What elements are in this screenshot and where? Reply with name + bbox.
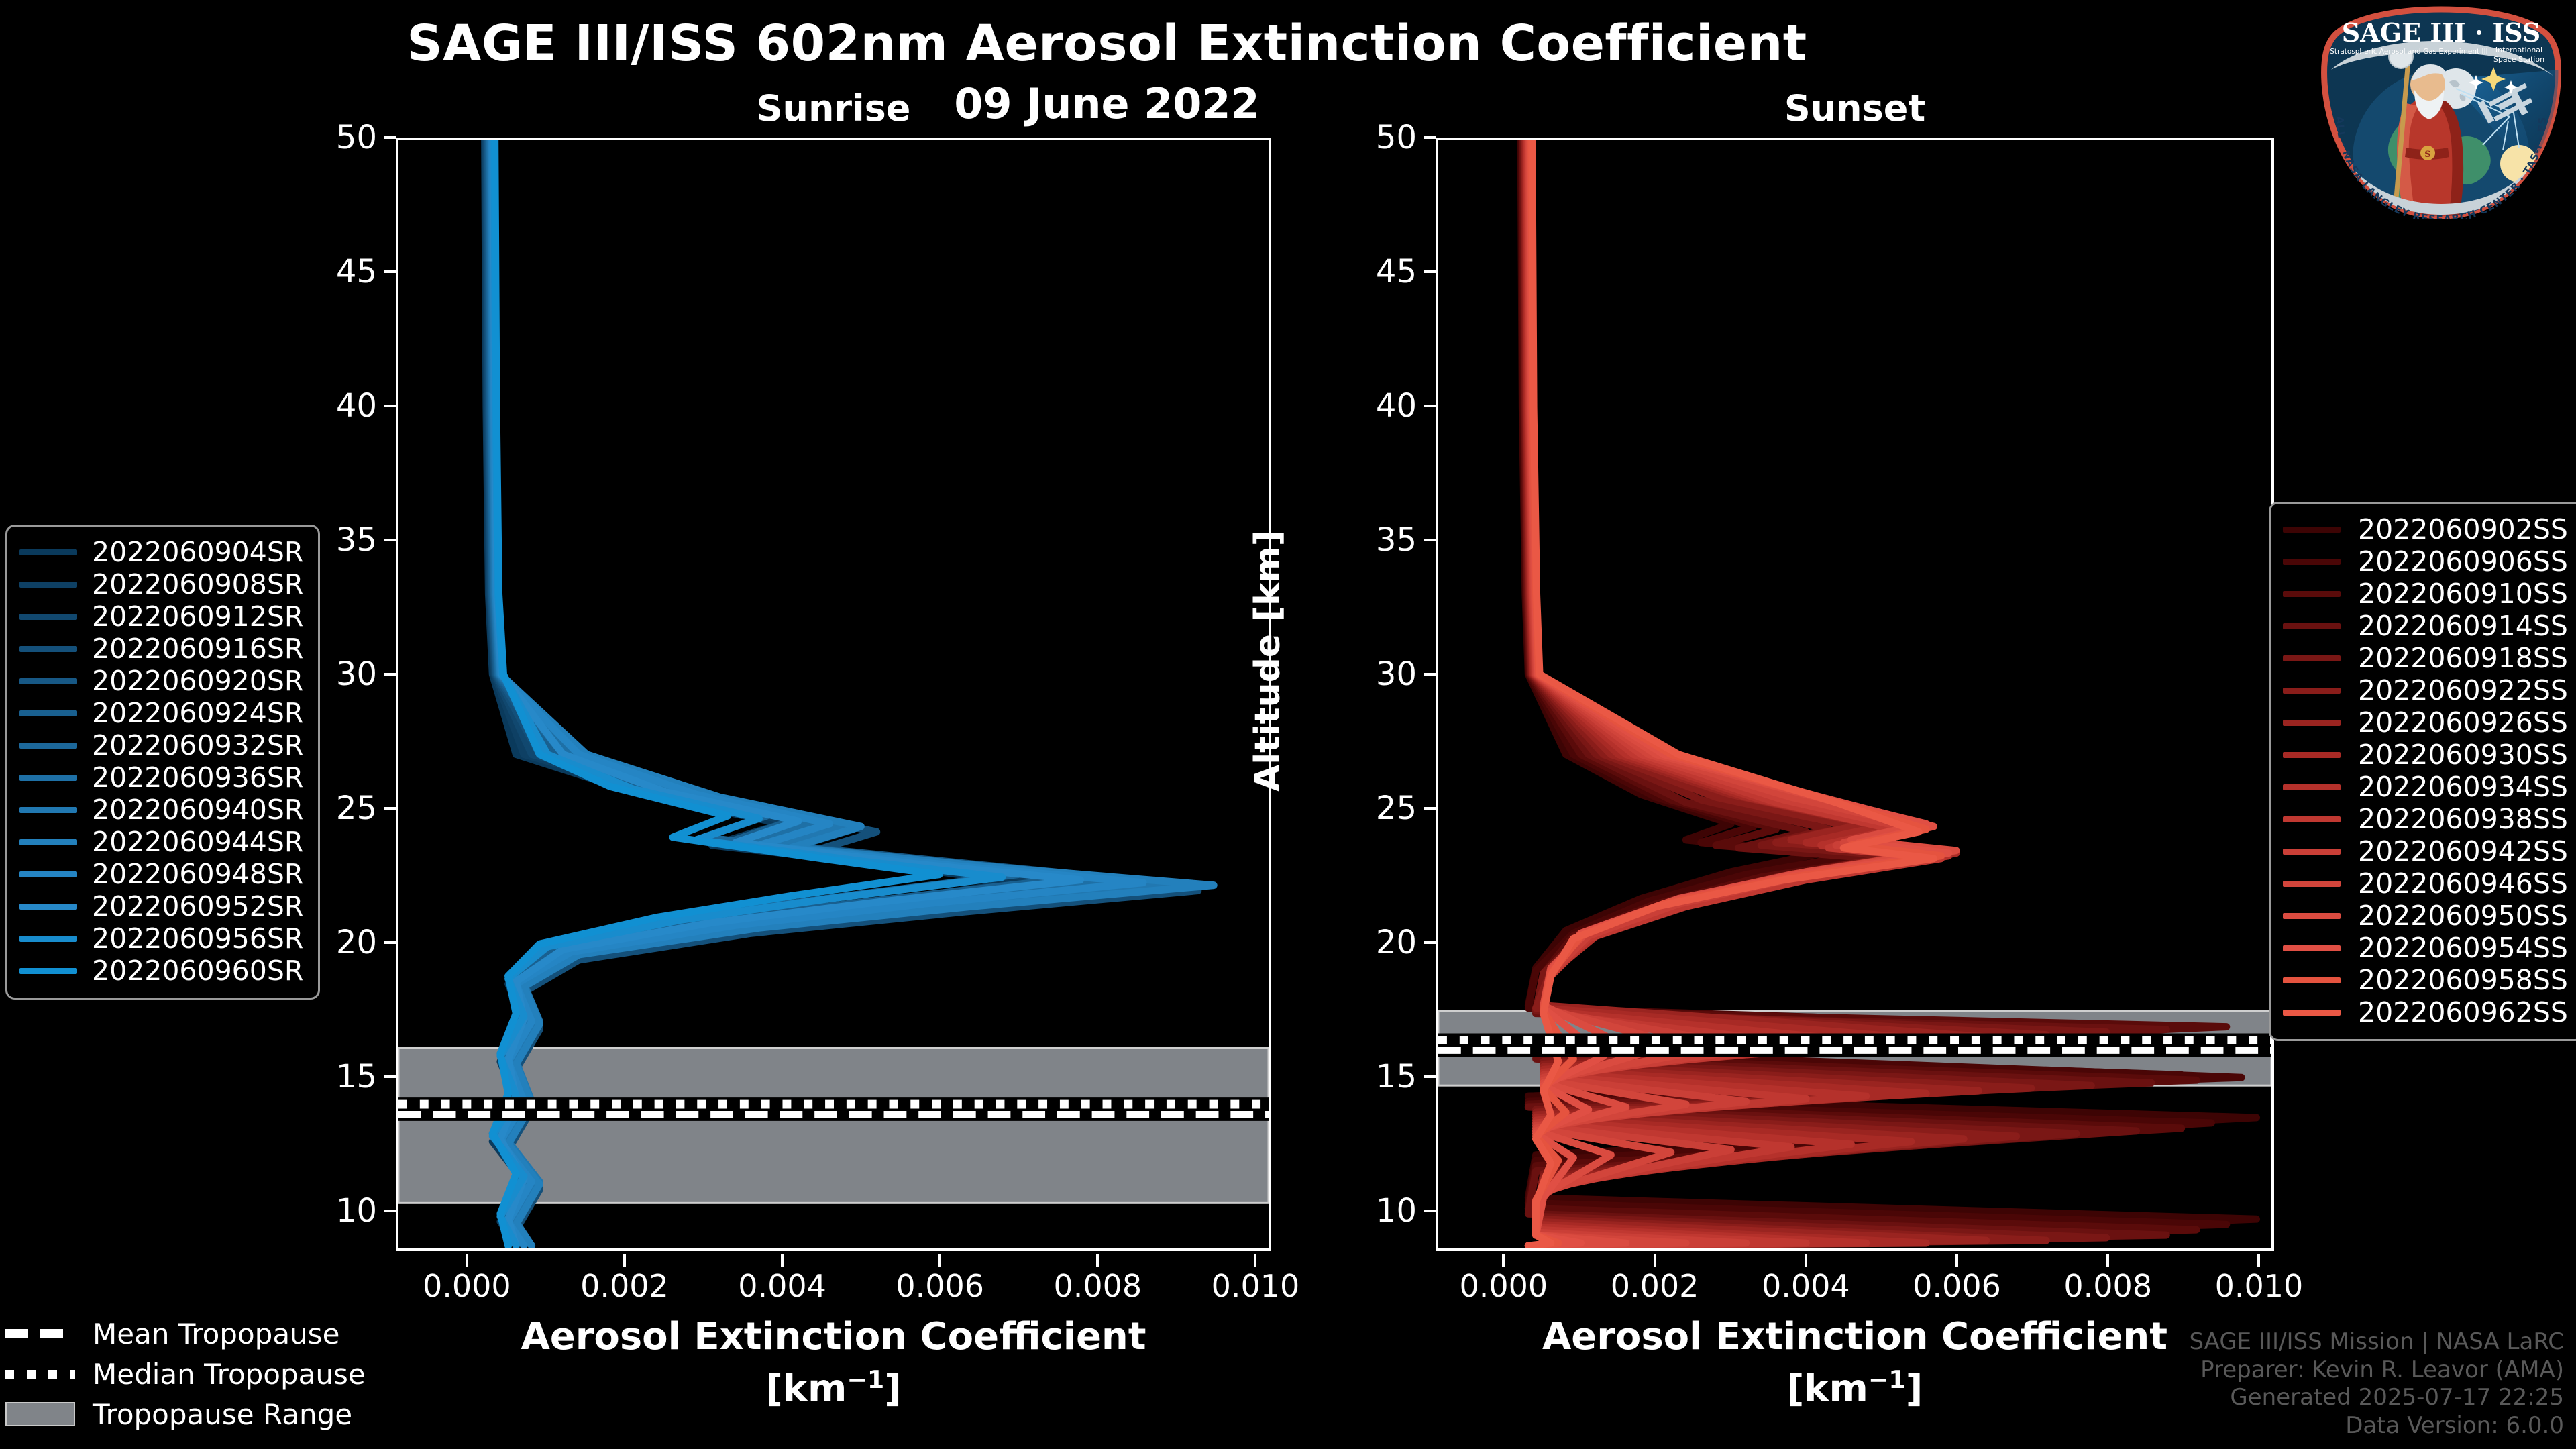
legend-label-median-tropopause: Median Tropopause bbox=[93, 1358, 366, 1391]
sunrise-legend-label: 2022060908SR bbox=[92, 568, 303, 600]
sunrise-legend-item[interactable]: 2022060956SR bbox=[19, 922, 303, 955]
sunset-legend-item[interactable]: 2022060930SS bbox=[2283, 739, 2568, 771]
sunrise-legend-label: 2022060932SR bbox=[92, 729, 303, 761]
band-swatch-icon bbox=[5, 1402, 75, 1426]
legend-line-swatch-icon bbox=[19, 839, 77, 845]
sunset-ytick-label: 40 bbox=[1316, 387, 1417, 425]
sunset-xtick-label: 0.008 bbox=[2063, 1268, 2152, 1304]
sunset-legend-label: 2022060926SS bbox=[2358, 706, 2568, 739]
sunset-ytick-mark bbox=[1424, 405, 1436, 407]
sunset-legend-item[interactable]: 2022060926SS bbox=[2283, 706, 2568, 739]
sunset-ytick-mark bbox=[1424, 136, 1436, 139]
sage-iii-iss-mission-patch-logo: S SAGE III · ISS Stratospheric Aerosol a… bbox=[2318, 5, 2565, 219]
sunrise-legend-item[interactable]: 2022060912SR bbox=[19, 600, 303, 633]
sunset-xtick-label: 0.000 bbox=[1459, 1268, 1548, 1304]
sunrise-legend-item[interactable]: 2022060940SR bbox=[19, 794, 303, 826]
legend-item-mean-tropopause: Mean Tropopause bbox=[5, 1313, 366, 1354]
sunrise-ytick-mark bbox=[384, 270, 396, 273]
sunrise-legend-label: 2022060904SR bbox=[92, 536, 303, 568]
sunset-xtick-label: 0.002 bbox=[1611, 1268, 1699, 1304]
sunset-y-axis-label: Altitude [km] bbox=[1248, 530, 1288, 792]
sunset-legend[interactable]: 2022060902SS2022060906SS2022060910SS2022… bbox=[2269, 502, 2576, 1041]
sunset-legend-item[interactable]: 2022060918SS bbox=[2283, 642, 2568, 674]
sunrise-xtick-label: 0.010 bbox=[1212, 1268, 1300, 1304]
page-title: SAGE III/ISS 602nm Aerosol Extinction Co… bbox=[0, 15, 2214, 72]
sunset-legend-item[interactable]: 2022060906SS bbox=[2283, 545, 2568, 578]
sunrise-xtick-mark bbox=[938, 1254, 941, 1267]
legend-line-swatch-icon bbox=[2283, 816, 2341, 822]
sunrise-x-axis-label: Aerosol Extinction Coefficient [km−1] bbox=[396, 1315, 1271, 1411]
legend-line-swatch-icon bbox=[19, 710, 77, 716]
sunrise-legend-item[interactable]: 2022060960SR bbox=[19, 955, 303, 987]
sunset-legend-item[interactable]: 2022060946SS bbox=[2283, 867, 2568, 900]
sunrise-ytick-mark bbox=[384, 539, 396, 541]
sunset-legend-item[interactable]: 2022060954SS bbox=[2283, 932, 2568, 964]
patch-subtitle-right-1: International bbox=[2495, 46, 2542, 54]
legend-line-swatch-icon bbox=[2283, 849, 2341, 855]
sunset-legend-label: 2022060954SS bbox=[2358, 932, 2568, 964]
sunrise-legend-label: 2022060952SR bbox=[92, 890, 303, 922]
legend-line-swatch-icon bbox=[2283, 752, 2341, 758]
sunset-legend-label: 2022060910SS bbox=[2358, 578, 2568, 610]
sunset-ytick-mark bbox=[1424, 673, 1436, 676]
sunset-xtick-mark bbox=[1805, 1254, 1807, 1267]
sunset-legend-item[interactable]: 2022060934SS bbox=[2283, 771, 2568, 803]
sunrise-xtick-label: 0.000 bbox=[423, 1268, 511, 1304]
sunset-xtick-label: 0.010 bbox=[2215, 1268, 2304, 1304]
sunset-ytick-mark bbox=[1424, 1075, 1436, 1078]
credits-line-generated: Generated 2025-07-17 22:25 bbox=[2189, 1384, 2564, 1411]
sunset-legend-label: 2022060962SS bbox=[2358, 996, 2568, 1028]
legend-line-swatch-icon bbox=[19, 871, 77, 877]
sunset-x-axis-label: Aerosol Extinction Coefficient [km−1] bbox=[1436, 1315, 2274, 1411]
sunset-ytick-label: 50 bbox=[1316, 119, 1417, 156]
sunrise-legend-label: 2022060948SR bbox=[92, 858, 303, 890]
patch-subtitle-right-2: Space Station bbox=[2493, 55, 2544, 64]
sunset-legend-item[interactable]: 2022060922SS bbox=[2283, 674, 2568, 706]
sunset-legend-item[interactable]: 2022060902SS bbox=[2283, 513, 2568, 545]
legend-line-swatch-icon bbox=[2283, 688, 2341, 694]
sunrise-ytick-mark bbox=[384, 1075, 396, 1078]
legend-line-swatch-icon bbox=[2283, 527, 2341, 533]
legend-line-swatch-icon bbox=[2283, 1010, 2341, 1016]
sunset-x-axis-unit: [km−1] bbox=[1436, 1365, 2274, 1411]
dotted-line-icon bbox=[5, 1370, 75, 1379]
legend-line-swatch-icon bbox=[2283, 623, 2341, 629]
sunset-ytick-label: 30 bbox=[1316, 655, 1417, 693]
legend-line-swatch-icon bbox=[2283, 655, 2341, 661]
sunset-ytick-label: 10 bbox=[1316, 1192, 1417, 1230]
legend-line-swatch-icon bbox=[19, 646, 77, 652]
sunset-plot-area bbox=[1436, 138, 2274, 1251]
legend-line-swatch-icon bbox=[2283, 913, 2341, 919]
sunset-panel-title: Sunset bbox=[1436, 87, 2274, 129]
sunrise-ytick-label: 10 bbox=[276, 1192, 377, 1230]
sunrise-legend-item[interactable]: 2022060908SR bbox=[19, 568, 303, 600]
svg-text:S: S bbox=[2424, 150, 2430, 160]
sunset-legend-item[interactable]: 2022060950SS bbox=[2283, 900, 2568, 932]
sunset-ytick-label: 25 bbox=[1316, 790, 1417, 827]
sunset-ytick-label: 15 bbox=[1316, 1058, 1417, 1095]
legend-line-swatch-icon bbox=[19, 807, 77, 813]
sunset-ytick-label: 45 bbox=[1316, 253, 1417, 290]
tropopause-legend: Mean Tropopause Median Tropopause Tropop… bbox=[5, 1313, 366, 1434]
sunrise-xtick-label: 0.002 bbox=[580, 1268, 669, 1304]
sunset-legend-item[interactable]: 2022060914SS bbox=[2283, 610, 2568, 642]
sunset-xtick-mark bbox=[1955, 1254, 1958, 1267]
sunrise-x-axis-label-text: Aerosol Extinction Coefficient bbox=[521, 1315, 1146, 1358]
sunrise-ytick-mark bbox=[384, 1210, 396, 1212]
sunrise-legend-label: 2022060924SR bbox=[92, 697, 303, 729]
legend-line-swatch-icon bbox=[2283, 881, 2341, 887]
credits-line-preparer: Preparer: Kevin R. Leavor (AMA) bbox=[2189, 1356, 2564, 1384]
credits-block: SAGE III/ISS Mission | NASA LaRC Prepare… bbox=[2189, 1328, 2564, 1440]
legend-line-swatch-icon bbox=[2283, 784, 2341, 790]
sunrise-ytick-label: 15 bbox=[276, 1058, 377, 1095]
sunrise-legend-label: 2022060956SR bbox=[92, 922, 303, 955]
legend-line-swatch-icon bbox=[19, 968, 77, 974]
sunset-legend-label: 2022060938SS bbox=[2358, 803, 2568, 835]
credits-line-mission: SAGE III/ISS Mission | NASA LaRC bbox=[2189, 1328, 2564, 1356]
sunrise-legend-label: 2022060912SR bbox=[92, 600, 303, 633]
sunrise-ytick-mark bbox=[384, 807, 396, 810]
sunset-xtick-mark bbox=[2257, 1254, 2260, 1267]
legend-line-swatch-icon bbox=[19, 678, 77, 684]
sunset-legend-item[interactable]: 2022060942SS bbox=[2283, 835, 2568, 867]
sunrise-legend-item[interactable]: 2022060924SR bbox=[19, 697, 303, 729]
legend-line-swatch-icon bbox=[19, 775, 77, 781]
legend-line-swatch-icon bbox=[19, 582, 77, 588]
sunrise-ytick-label: 45 bbox=[276, 253, 377, 290]
legend-line-swatch-icon bbox=[2283, 945, 2341, 951]
sunset-ytick-mark bbox=[1424, 941, 1436, 944]
sunrise-xtick-mark bbox=[1254, 1254, 1256, 1267]
patch-title: SAGE III · ISS bbox=[2342, 17, 2540, 48]
chart-canvas: SAGE III/ISS 602nm Aerosol Extinction Co… bbox=[0, 0, 2576, 1449]
sunrise-ytick-label: 40 bbox=[276, 387, 377, 425]
sunset-ytick-mark bbox=[1424, 1210, 1436, 1212]
legend-item-median-tropopause: Median Tropopause bbox=[5, 1354, 366, 1394]
legend-line-swatch-icon bbox=[19, 904, 77, 910]
sunset-legend-label: 2022060946SS bbox=[2358, 867, 2568, 900]
sunrise-legend-item[interactable]: 2022060904SR bbox=[19, 536, 303, 568]
sunset-legend-label: 2022060922SS bbox=[2358, 674, 2568, 706]
sunset-legend-label: 2022060950SS bbox=[2358, 900, 2568, 932]
sunrise-legend-label: 2022060936SR bbox=[92, 761, 303, 794]
legend-line-swatch-icon bbox=[19, 743, 77, 749]
patch-subtitle-left: Stratospheric Aerosol and Gas Experiment… bbox=[2330, 48, 2488, 56]
sunset-legend-label: 2022060930SS bbox=[2358, 739, 2568, 771]
sunset-ytick-mark bbox=[1424, 807, 1436, 810]
sunrise-panel-title: Sunrise bbox=[396, 87, 1271, 129]
sunset-legend-item[interactable]: 2022060910SS bbox=[2283, 578, 2568, 610]
sunset-legend-label: 2022060934SS bbox=[2358, 771, 2568, 803]
sunset-xtick-mark bbox=[2106, 1254, 2109, 1267]
sunrise-legend-label: 2022060944SR bbox=[92, 826, 303, 858]
legend-line-swatch-icon bbox=[2283, 720, 2341, 726]
legend-line-swatch-icon bbox=[19, 614, 77, 620]
sunset-ytick-label: 20 bbox=[1316, 924, 1417, 961]
sunset-legend-label: 2022060958SS bbox=[2358, 964, 2568, 996]
sunrise-legend-item[interactable]: 2022060920SR bbox=[19, 665, 303, 697]
legend-line-swatch-icon bbox=[19, 936, 77, 942]
sunrise-legend-item[interactable]: 2022060916SR bbox=[19, 633, 303, 665]
sunrise-xtick-label: 0.008 bbox=[1053, 1268, 1142, 1304]
sunrise-legend-label: 2022060920SR bbox=[92, 665, 303, 697]
sunrise-legend-item[interactable]: 2022060944SR bbox=[19, 826, 303, 858]
sunrise-legend-item[interactable]: 2022060932SR bbox=[19, 729, 303, 761]
sunset-xtick-mark bbox=[1654, 1254, 1656, 1267]
sunset-ytick-mark bbox=[1424, 270, 1436, 273]
sunset-legend-label: 2022060942SS bbox=[2358, 835, 2568, 867]
sunrise-ytick-mark bbox=[384, 405, 396, 407]
sunrise-legend-label: 2022060940SR bbox=[92, 794, 303, 826]
sunrise-ytick-mark bbox=[384, 136, 396, 139]
sunrise-xtick-label: 0.006 bbox=[896, 1268, 984, 1304]
sunrise-x-axis-unit: [km−1] bbox=[396, 1365, 1271, 1411]
sunset-legend-item[interactable]: 2022060958SS bbox=[2283, 964, 2568, 996]
sunrise-legend-label: 2022060960SR bbox=[92, 955, 303, 987]
sunset-legend-label: 2022060918SS bbox=[2358, 642, 2568, 674]
sunrise-plot-area bbox=[396, 138, 1271, 1251]
legend-item-tropopause-range: Tropopause Range bbox=[5, 1394, 366, 1434]
dashed-line-icon bbox=[5, 1329, 75, 1338]
sunrise-legend[interactable]: 2022060904SR2022060908SR2022060912SR2022… bbox=[5, 525, 320, 1000]
sunrise-xtick-mark bbox=[466, 1254, 468, 1267]
sunrise-legend-label: 2022060916SR bbox=[92, 633, 303, 665]
sunset-xtick-label: 0.006 bbox=[1913, 1268, 2001, 1304]
legend-line-swatch-icon bbox=[2283, 977, 2341, 983]
sunset-ytick-label: 35 bbox=[1316, 521, 1417, 559]
legend-label-tropopause-range: Tropopause Range bbox=[93, 1398, 352, 1431]
sunset-legend-item[interactable]: 2022060962SS bbox=[2283, 996, 2568, 1028]
sunrise-ytick-mark bbox=[384, 673, 396, 676]
sunrise-xtick-mark bbox=[623, 1254, 626, 1267]
sunset-x-axis-label-text: Aerosol Extinction Coefficient bbox=[1542, 1315, 2167, 1358]
sunset-legend-label: 2022060906SS bbox=[2358, 545, 2568, 578]
credits-line-version: Data Version: 6.0.0 bbox=[2189, 1412, 2564, 1440]
sunset-ytick-mark bbox=[1424, 539, 1436, 541]
sunset-xtick-label: 0.004 bbox=[1762, 1268, 1850, 1304]
legend-line-swatch-icon bbox=[19, 549, 77, 555]
sunset-legend-label: 2022060902SS bbox=[2358, 513, 2568, 545]
sunrise-ytick-label: 50 bbox=[276, 119, 377, 156]
sunrise-xtick-label: 0.004 bbox=[738, 1268, 826, 1304]
sunrise-ytick-mark bbox=[384, 941, 396, 944]
sunset-legend-label: 2022060914SS bbox=[2358, 610, 2568, 642]
legend-label-mean-tropopause: Mean Tropopause bbox=[93, 1318, 339, 1350]
sunrise-legend-item[interactable]: 2022060948SR bbox=[19, 858, 303, 890]
sunset-legend-item[interactable]: 2022060938SS bbox=[2283, 803, 2568, 835]
sunrise-legend-item[interactable]: 2022060936SR bbox=[19, 761, 303, 794]
legend-line-swatch-icon bbox=[2283, 559, 2341, 565]
sunrise-xtick-mark bbox=[1096, 1254, 1099, 1267]
sunrise-xtick-mark bbox=[781, 1254, 784, 1267]
sunrise-legend-item[interactable]: 2022060952SR bbox=[19, 890, 303, 922]
legend-line-swatch-icon bbox=[2283, 591, 2341, 597]
sunset-xtick-mark bbox=[1502, 1254, 1505, 1267]
